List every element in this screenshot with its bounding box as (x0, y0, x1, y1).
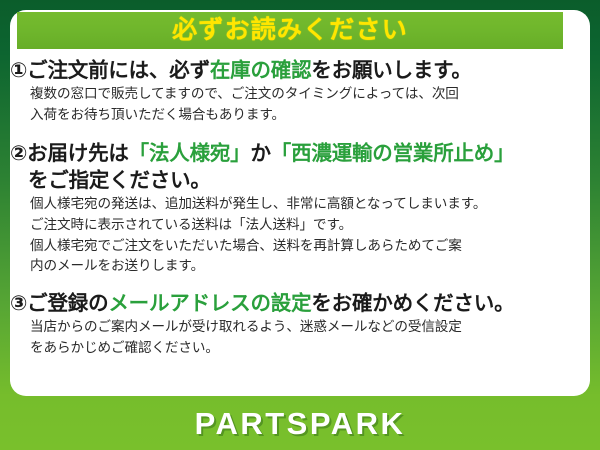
notice-item-2: ②お届け先は「法人様宛」か「西濃運輸の営業所止め」 をご指定ください。 個人様宅… (10, 140, 570, 277)
notice-1-marker: ① (10, 59, 27, 82)
header-bar: 必ずお読みください (17, 12, 563, 49)
notice-3-heading-part-3: をお確かめください。 (311, 292, 514, 315)
footer-bar: PARTSPARK (0, 396, 600, 450)
spacer-2 (10, 279, 570, 290)
notice-2-body-line-1: 個人様宅宛の発送は、追加送料が発生し、非常に高額となってしまいます。 (30, 194, 570, 215)
notice-item-3: ③ご登録のメールアドレスの設定をお確かめください。 当店からのご案内メールが受け… (10, 290, 570, 358)
notice-2-heading-part-1: お届け先は (27, 142, 129, 165)
notice-3-body: 当店からのご案内メールが受け取れるよう、迷惑メールなどの受信設定 をあらかじめご… (10, 317, 570, 358)
notice-3-marker: ③ (10, 292, 27, 315)
notice-list: ①ご注文前には、必ず在庫の確認をお願いします。 複数の窓口で販売してますので、ご… (10, 57, 570, 360)
notice-1-body-line-2: 入荷をお待ち頂いただく場合もあります。 (30, 105, 570, 126)
notice-2-body-line-4: 内のメールをお送りします。 (30, 256, 570, 277)
notice-2-heading-highlight-1: 「法人様宛」 (129, 142, 251, 165)
notice-3-heading-highlight: メールアドレスの設定 (108, 292, 311, 315)
notice-2-marker: ② (10, 142, 27, 165)
notice-1-body: 複数の窓口で販売してますので、ご注文のタイミングによっては、次回 入荷をお待ち頂… (10, 84, 570, 125)
notice-1-heading: ①ご注文前には、必ず在庫の確認をお願いします。 (10, 57, 570, 84)
notice-2-heading-part-3: か (250, 142, 270, 165)
notice-2-heading-highlight-2: 「西濃運輸の営業所止め」 (271, 142, 515, 165)
notice-banner: 必ずお読みください ①ご注文前には、必ず在庫の確認をお願いします。 複数の窓口で… (0, 0, 600, 450)
notice-1-heading-part-1: ご注文前には、必ず (27, 59, 210, 82)
notice-3-body-line-2: をあらかじめご確認ください。 (30, 338, 570, 359)
header-title: 必ずお読みください (172, 18, 408, 43)
notice-2-heading-line2: をご指定ください。 (10, 167, 570, 194)
notice-2-body: 個人様宅宛の発送は、追加送料が発生し、非常に高額となってしまいます。 ご注文時に… (10, 194, 570, 277)
notice-3-heading-part-1: ご登録の (27, 292, 108, 315)
notice-1-heading-part-3: をお願いします。 (311, 59, 471, 82)
notice-2-heading: ②お届け先は「法人様宛」か「西濃運輸の営業所止め」 (10, 140, 570, 167)
notice-1-body-line-1: 複数の窓口で販売してますので、ご注文のタイミングによっては、次回 (30, 84, 570, 105)
spacer-1 (10, 127, 570, 140)
notice-3-body-line-1: 当店からのご案内メールが受け取れるよう、迷惑メールなどの受信設定 (30, 317, 570, 338)
notice-2-body-line-2: ご注文時に表示されている送料は「法人送料」です。 (30, 215, 570, 236)
notice-1-heading-highlight: 在庫の確認 (210, 59, 312, 82)
notice-3-heading: ③ご登録のメールアドレスの設定をお確かめください。 (10, 290, 570, 317)
notice-2-body-line-3: 個人様宅宛でご注文をいただいた場合、送料を再計算しあらためてご案 (30, 236, 570, 257)
brand-logo-text: PARTSPARK (195, 408, 406, 439)
notice-item-1: ①ご注文前には、必ず在庫の確認をお願いします。 複数の窓口で販売してますので、ご… (10, 57, 570, 125)
